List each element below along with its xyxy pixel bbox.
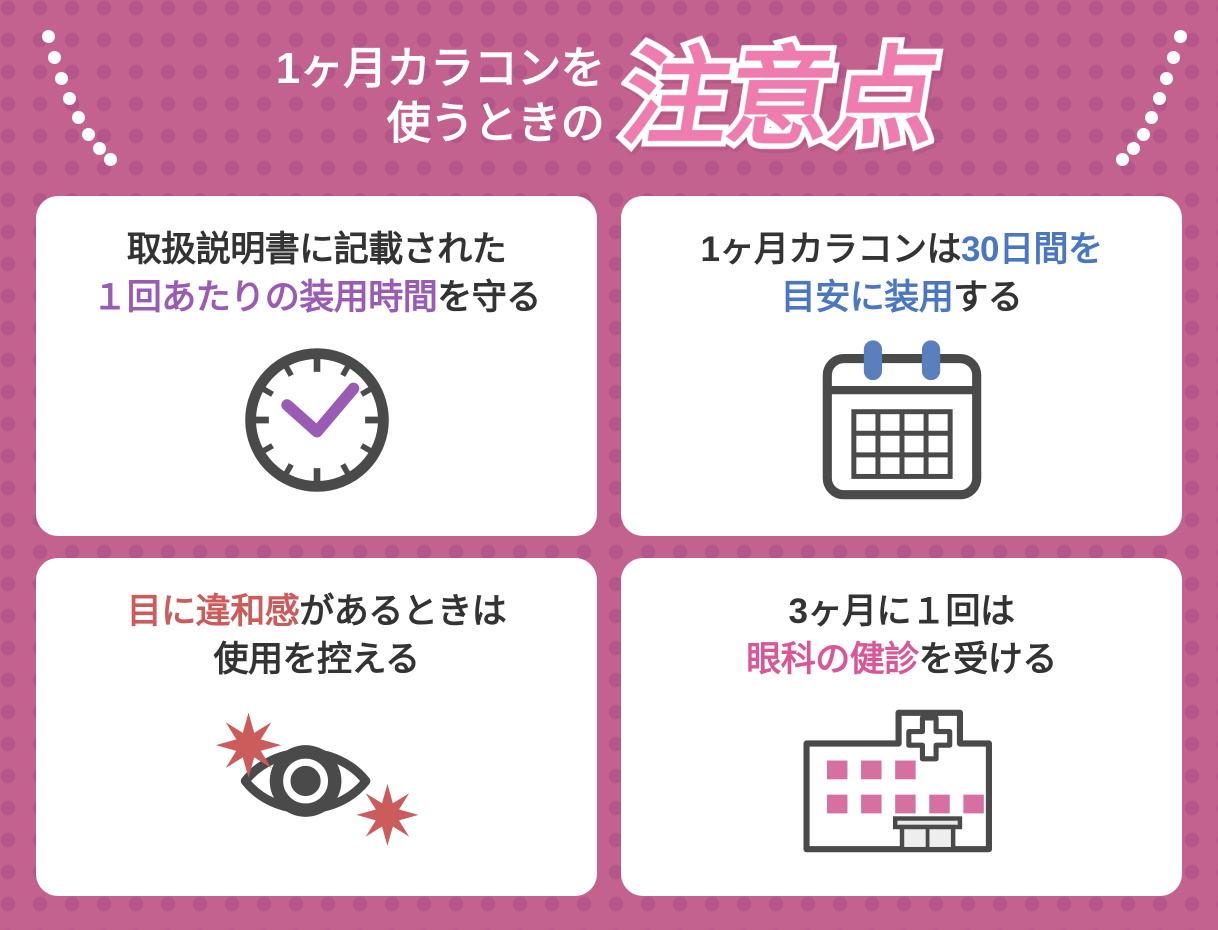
eye-sparkle-icon: [201, 706, 433, 856]
card-2-icon-wrap: [639, 321, 1164, 518]
hospital-windows-row-1: [827, 760, 916, 779]
card-2-text: 1ヶ月カラコンは30日間を 目安に装用する: [701, 226, 1103, 321]
card-2-line-1: 1ヶ月カラコンは30日間を: [701, 226, 1103, 274]
clock-icon: [234, 337, 400, 503]
card-3-text: 目に違和感があるときは 使用を控える: [127, 588, 507, 683]
card-manual-wear-time: 取扱説明書に記載された １回あたりの装用時間を守る: [36, 196, 597, 536]
page-title: 注意点: [610, 45, 951, 151]
card-2-line-2: 目安に装用する: [701, 274, 1103, 322]
card-eye-discomfort: 目に違和感があるときは 使用を控える: [36, 558, 597, 896]
text-run: を守る: [437, 278, 541, 317]
card-thirty-day-guideline: 1ヶ月カラコンは30日間を 目安に装用する: [621, 196, 1182, 536]
text-run: を受ける: [919, 640, 1057, 679]
hospital-entrance: [895, 818, 960, 849]
dotted-arc-right-decoration: [1112, 0, 1202, 190]
header-lead-line-2: 使うときの: [276, 96, 604, 151]
text-run: 30日間を: [961, 230, 1102, 269]
card-1-line-1: 取扱説明書に記載された: [92, 226, 541, 274]
calendar-icon: [814, 337, 990, 503]
card-1-line-2: １回あたりの装用時間を守る: [92, 274, 541, 322]
card-eye-clinic-checkup: 3ヶ月に１回は 眼科の健診を受ける: [621, 558, 1182, 896]
text-run: 1ヶ月カラコンは: [701, 230, 961, 269]
hospital-icon: [795, 706, 1009, 856]
text-run: 取扱説明書に記載された: [127, 230, 507, 269]
card-4-text: 3ヶ月に１回は 眼科の健診を受ける: [746, 588, 1057, 683]
card-4-line-1: 3ヶ月に１回は: [746, 588, 1057, 636]
text-run: 目に違和感: [127, 592, 300, 631]
card-1-icon-wrap: [54, 321, 579, 518]
header-lead-text: 1ヶ月カラコンを 使うときの: [276, 41, 604, 156]
header: 1ヶ月カラコンを 使うときの 注意点: [0, 0, 1218, 196]
dotted-arc-left-decoration: [16, 0, 106, 190]
card-4-icon-wrap: [639, 683, 1164, 878]
text-run: 3ヶ月に１回は: [789, 592, 1015, 631]
card-3-line-1: 目に違和感があるときは: [127, 588, 507, 636]
card-4-line-2: 眼科の健診を受ける: [746, 636, 1057, 684]
text-run: １回あたりの装用時間: [92, 278, 437, 317]
text-run: 眼科の健診: [746, 640, 919, 679]
text-run: する: [953, 278, 1022, 317]
cards-grid: 取扱説明書に記載された １回あたりの装用時間を守る: [0, 196, 1218, 930]
text-run: があるときは: [299, 592, 506, 631]
card-3-icon-wrap: [54, 683, 579, 878]
sparkle-bottom-right: [356, 784, 418, 846]
header-lead-line-1: 1ヶ月カラコンを: [276, 41, 604, 96]
card-1-text: 取扱説明書に記載された １回あたりの装用時間を守る: [92, 226, 541, 321]
card-3-line-2: 使用を控える: [127, 636, 507, 684]
text-run: 目安に装用: [781, 278, 954, 317]
text-run: 使用を控える: [214, 640, 420, 679]
infographic-poster: 1ヶ月カラコンを 使うときの 注意点 取扱説明書に記載された １回あたりの装用時…: [0, 0, 1218, 930]
